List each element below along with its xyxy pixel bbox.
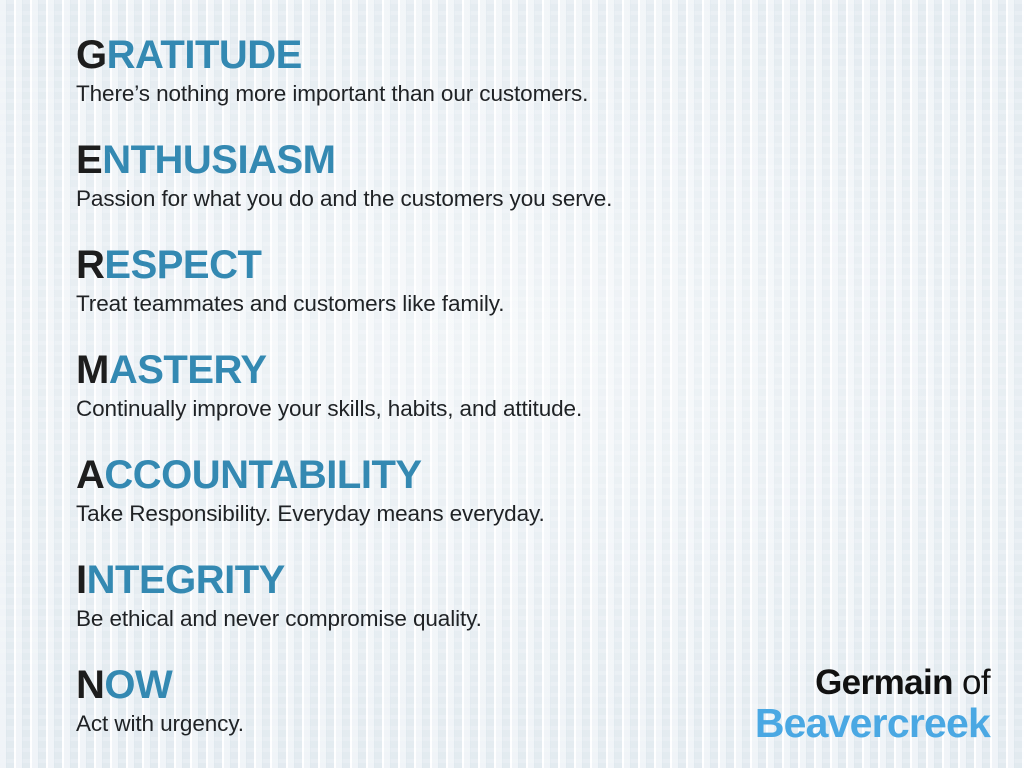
value-initial-respect: R <box>76 243 104 287</box>
logo-location-name: Beavercreek <box>755 703 990 744</box>
value-description-enthusiasm: Passion for what you do and the customer… <box>76 184 1024 213</box>
value-rest-mastery: ASTERY <box>109 348 267 392</box>
value-heading-accountability: ACCOUNTABILITY <box>76 454 1024 497</box>
value-description-gratitude: There’s nothing more important than our … <box>76 79 1024 108</box>
value-initial-enthusiasm: E <box>76 138 102 182</box>
value-initial-integrity: I <box>76 558 87 602</box>
value-rest-accountability: CCOUNTABILITY <box>104 453 421 497</box>
logo-conjunction: of <box>953 663 990 702</box>
value-initial-accountability: A <box>76 453 104 497</box>
logo-line-primary: Germain of <box>755 665 990 700</box>
value-rest-enthusiasm: NTHUSIASM <box>102 138 335 182</box>
value-block-accountability: ACCOUNTABILITY Take Responsibility. Ever… <box>76 454 1024 554</box>
value-rest-respect: ESPECT <box>104 243 261 287</box>
value-heading-integrity: INTEGRITY <box>76 559 1024 602</box>
value-block-mastery: MASTERY Continually improve your skills,… <box>76 349 1024 449</box>
value-description-mastery: Continually improve your skills, habits,… <box>76 394 1024 423</box>
value-initial-now: N <box>76 663 104 707</box>
value-rest-integrity: NTEGRITY <box>87 558 285 602</box>
value-heading-mastery: MASTERY <box>76 349 1024 392</box>
value-description-respect: Treat teammates and customers like famil… <box>76 289 1024 318</box>
value-initial-mastery: M <box>76 348 109 392</box>
value-heading-enthusiasm: ENTHUSIASM <box>76 139 1024 182</box>
value-description-integrity: Be ethical and never compromise quality. <box>76 604 1024 633</box>
value-initial-gratitude: G <box>76 33 107 77</box>
value-block-respect: RESPECT Treat teammates and customers li… <box>76 244 1024 344</box>
value-heading-gratitude: GRATITUDE <box>76 34 1024 77</box>
value-description-accountability: Take Responsibility. Everyday means ever… <box>76 499 1024 528</box>
value-block-enthusiasm: ENTHUSIASM Passion for what you do and t… <box>76 139 1024 239</box>
core-values-poster: GRATITUDE There’s nothing more important… <box>0 0 1024 768</box>
logo-brand-name: Germain <box>815 663 953 702</box>
value-rest-now: OW <box>104 663 172 707</box>
dealership-logo: Germain of Beavercreek <box>755 665 990 744</box>
value-heading-respect: RESPECT <box>76 244 1024 287</box>
value-rest-gratitude: RATITUDE <box>107 33 302 77</box>
value-block-gratitude: GRATITUDE There’s nothing more important… <box>76 34 1024 134</box>
value-block-integrity: INTEGRITY Be ethical and never compromis… <box>76 559 1024 659</box>
